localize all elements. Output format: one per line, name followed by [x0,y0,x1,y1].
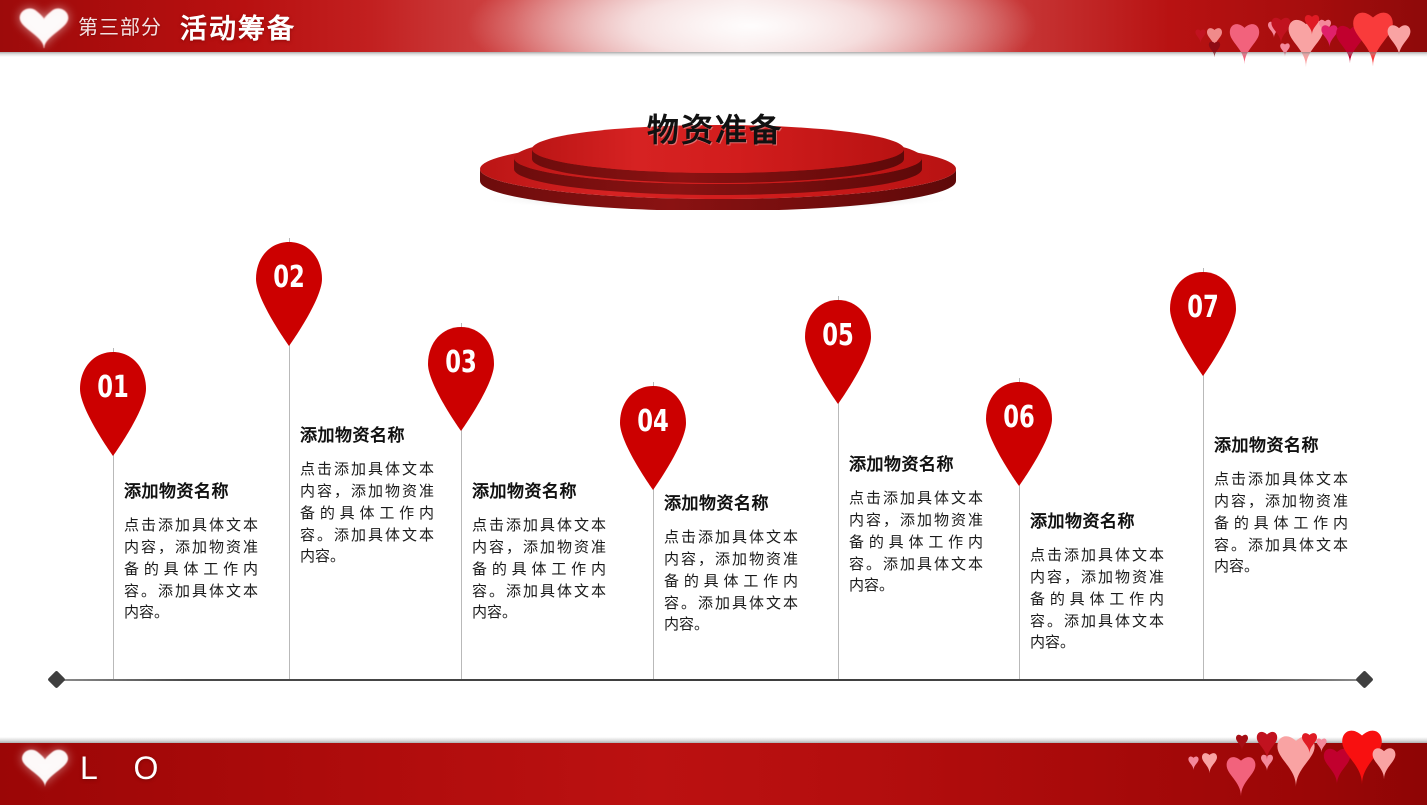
item-body: 点击添加具体文本内容，添加物资准备的具体工作内容。添加具体文本内容。 [849,488,983,597]
header-hearts-decoration [1137,0,1427,74]
item-title: 添加物资名称 [300,425,434,446]
footer-hearts-decoration [1137,719,1427,805]
map-pin-icon[interactable]: 02 [248,238,330,320]
footer-heart-icon [20,747,70,789]
pin-number-label: 06 [985,378,1054,456]
pin-number-label: 05 [804,296,873,374]
map-pin-icon[interactable]: 06 [978,378,1060,460]
item-text-block: 添加物资名称 点击添加具体文本内容，添加物资准备的具体工作内容。添加具体文本内容… [1214,435,1348,578]
map-pin-icon[interactable]: 04 [612,382,694,464]
map-pin-icon[interactable]: 03 [420,323,502,405]
page-title: 活动筹备 [180,7,296,46]
item-body: 点击添加具体文本内容，添加物资准备的具体工作内容。添加具体文本内容。 [1214,469,1348,578]
footer-logo-text: L O [80,750,172,787]
timeline-axis-left-cap [47,670,65,688]
slide-canvas: 第三部分 活动筹备 [0,0,1427,805]
podium-title-block: 物资准备 [470,105,960,210]
item-title: 添加物资名称 [1214,435,1348,456]
item-body: 点击添加具体文本内容，添加物资准备的具体工作内容。添加具体文本内容。 [664,527,798,636]
item-title: 添加物资名称 [1030,511,1164,532]
item-title: 添加物资名称 [472,481,606,502]
pin-number-label: 07 [1169,268,1238,346]
item-title: 添加物资名称 [849,454,983,475]
podium-title-text: 物资准备 [470,105,960,151]
item-body: 点击添加具体文本内容，添加物资准备的具体工作内容。添加具体文本内容。 [124,515,258,624]
item-body: 点击添加具体文本内容，添加物资准备的具体工作内容。添加具体文本内容。 [472,515,606,624]
pin-number-label: 04 [619,382,688,460]
map-pin-icon[interactable]: 01 [72,348,154,430]
header-divider-shadow [0,52,1427,57]
item-text-block: 添加物资名称 点击添加具体文本内容，添加物资准备的具体工作内容。添加具体文本内容… [124,481,258,624]
timeline-axis [56,679,1366,681]
header-heart-icon [18,6,70,50]
item-text-block: 添加物资名称 点击添加具体文本内容，添加物资准备的具体工作内容。添加具体文本内容… [472,481,606,624]
item-body: 点击添加具体文本内容，添加物资准备的具体工作内容。添加具体文本内容。 [1030,545,1164,654]
item-text-block: 添加物资名称 点击添加具体文本内容，添加物资准备的具体工作内容。添加具体文本内容… [300,425,434,568]
timeline-axis-right-cap [1355,670,1373,688]
slide-header: 第三部分 活动筹备 [0,0,1427,56]
item-text-block: 添加物资名称 点击添加具体文本内容，添加物资准备的具体工作内容。添加具体文本内容… [849,454,983,597]
map-pin-icon[interactable]: 05 [797,296,879,378]
pin-number-label: 03 [427,323,496,401]
header-section-label: 第三部分 [78,11,162,40]
map-pin-icon[interactable]: 07 [1162,268,1244,350]
pin-number-label: 01 [79,348,148,426]
item-text-block: 添加物资名称 点击添加具体文本内容，添加物资准备的具体工作内容。添加具体文本内容… [1030,511,1164,654]
item-text-block: 添加物资名称 点击添加具体文本内容，添加物资准备的具体工作内容。添加具体文本内容… [664,493,798,636]
slide-footer: L O [0,719,1427,805]
item-body: 点击添加具体文本内容，添加物资准备的具体工作内容。添加具体文本内容。 [300,459,434,568]
item-title: 添加物资名称 [124,481,258,502]
pin-number-label: 02 [255,238,324,316]
item-title: 添加物资名称 [664,493,798,514]
